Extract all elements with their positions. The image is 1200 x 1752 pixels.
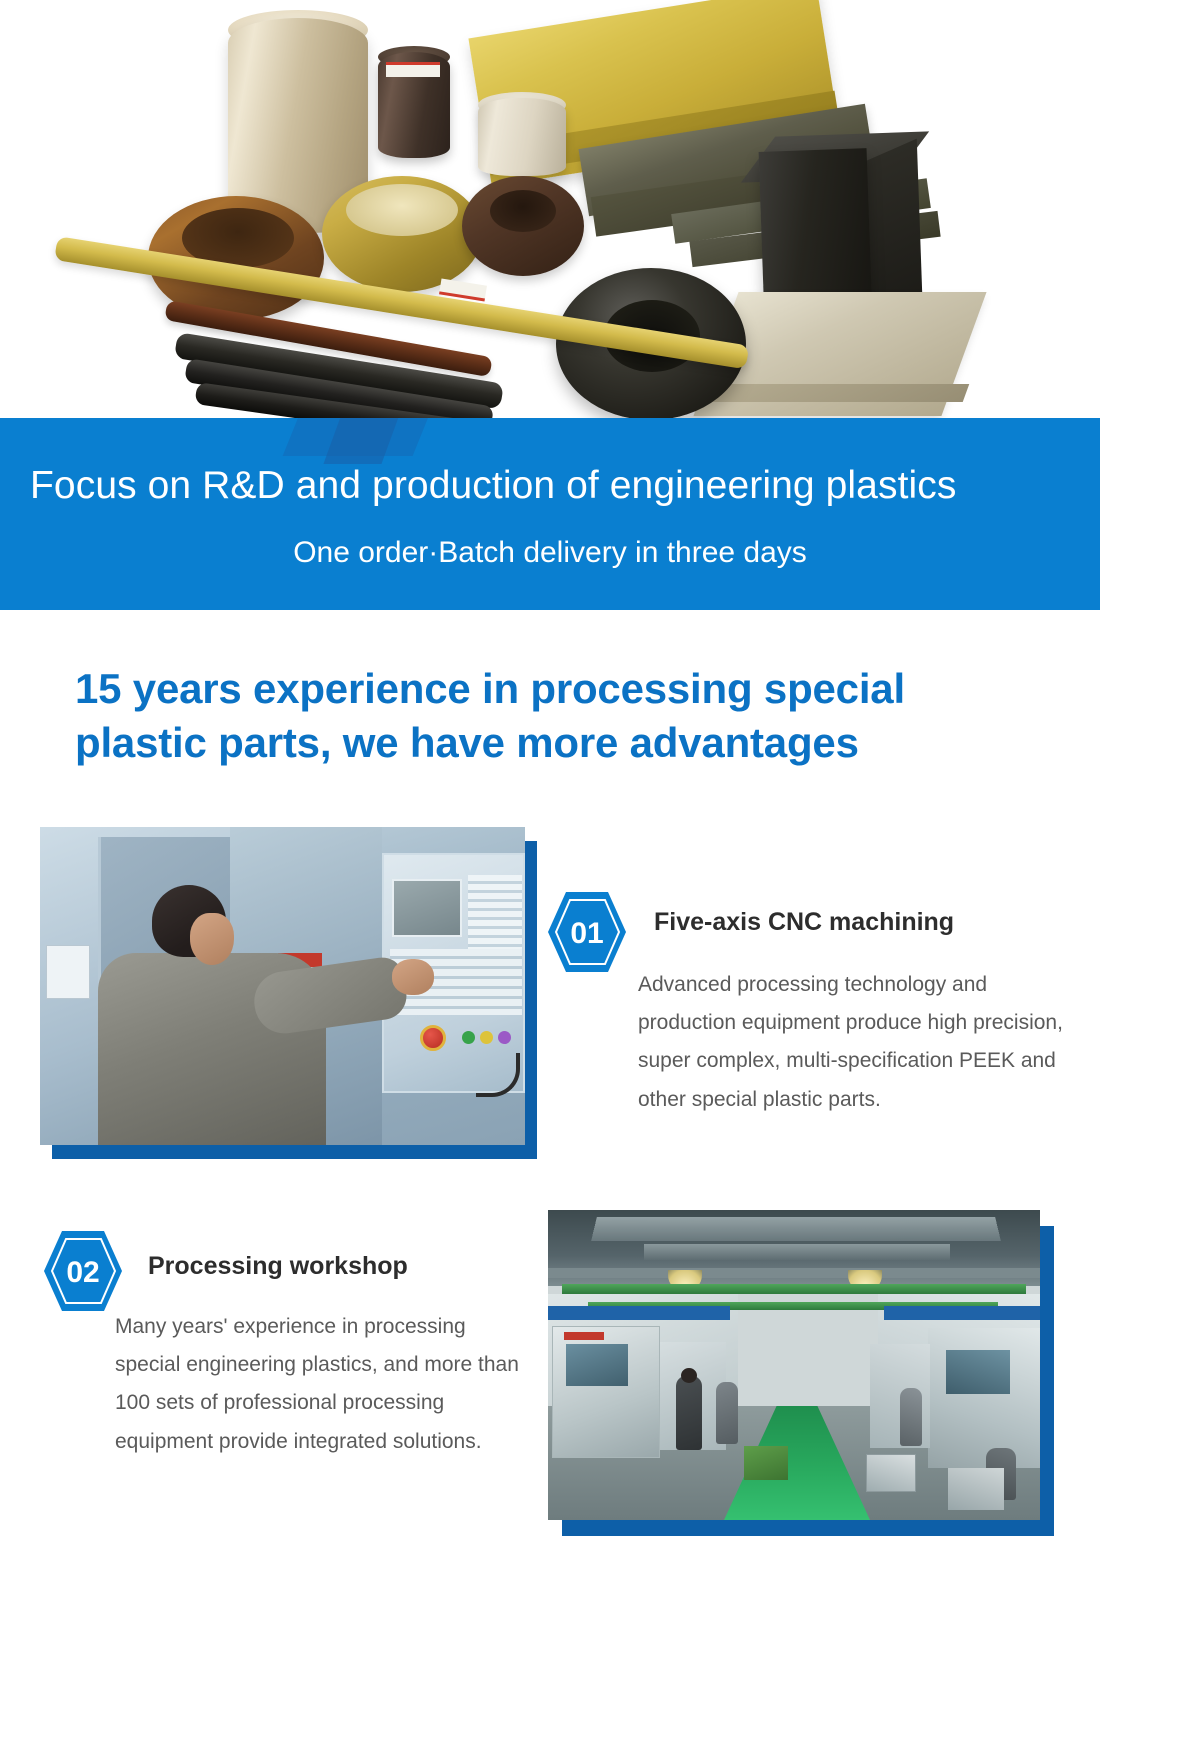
workshop-cart-1 [744,1446,788,1480]
card-02-number: 02 [66,1256,99,1289]
material-ivory-cylinder [478,98,566,176]
workshop-machine-right-1-window [946,1350,1010,1394]
workshop-green-pipe [562,1284,1026,1294]
card-02-photo [548,1210,1040,1520]
material-brass-ring-bore [346,184,458,236]
hero-product-photo [0,0,1200,418]
workshop-worker-2 [716,1382,738,1444]
workshop-machine-left-1-window [566,1344,628,1386]
workshop-duct-secondary [644,1244,950,1260]
section-headline: 15 years experience in processing specia… [75,662,1085,770]
card-01-number: 01 [570,917,603,950]
workshop-cart-2 [866,1454,916,1492]
operator-hand [392,959,434,995]
material-dark-brown-ring-bore [490,190,556,232]
card-01-photo [40,827,525,1145]
cnc-clipboard [46,945,90,999]
cnc-purple-button [498,1031,511,1044]
cnc-keypad-right [468,875,522,959]
cnc-green-button [462,1031,475,1044]
cnc-screen [392,879,462,937]
hero-materials-stage [0,0,1200,418]
workshop-worker-3 [900,1388,922,1446]
card-01-body: Advanced processing technology and produ… [638,966,1078,1119]
workshop-beam [548,1268,1040,1278]
section-headline-line-2: plastic parts, we have more advantages [75,716,1085,770]
card-02-title: Processing workshop [148,1252,548,1281]
banner-subheadline: One order·Batch delivery in three days [0,536,1100,570]
workshop-blue-band-right [884,1306,1040,1320]
workshop-machine-left-1-label [564,1332,604,1340]
section-headline-line-1: 15 years experience in processing specia… [75,662,1085,716]
cnc-emergency-stop-button [420,1025,446,1051]
workshop-cart-3 [948,1468,1004,1510]
workshop-worker-1-head [681,1368,697,1383]
card-01-photo-frame [40,827,525,1145]
workshop-worker-1 [676,1376,702,1450]
banner-headline: Focus on R&D and production of engineeri… [30,464,1070,508]
workshop-machine-right-1 [928,1328,1040,1468]
material-label [386,62,440,77]
card-02-body: Many years' experience in processing spe… [115,1308,535,1461]
card-01-title: Five-axis CNC machining [654,908,1084,937]
tagline-banner: Focus on R&D and production of engineeri… [0,418,1100,610]
card-02-number-badge: 02 [42,1228,124,1314]
workshop-blue-band-left [548,1306,730,1320]
operator-face [190,913,234,965]
cnc-cable [476,1053,520,1097]
card-01-number-badge: 01 [546,889,628,975]
material-tan-sheet-edge [703,384,970,402]
workshop-duct [591,1217,1001,1241]
card-02-photo-frame [548,1210,1040,1520]
cnc-yellow-button [480,1031,493,1044]
